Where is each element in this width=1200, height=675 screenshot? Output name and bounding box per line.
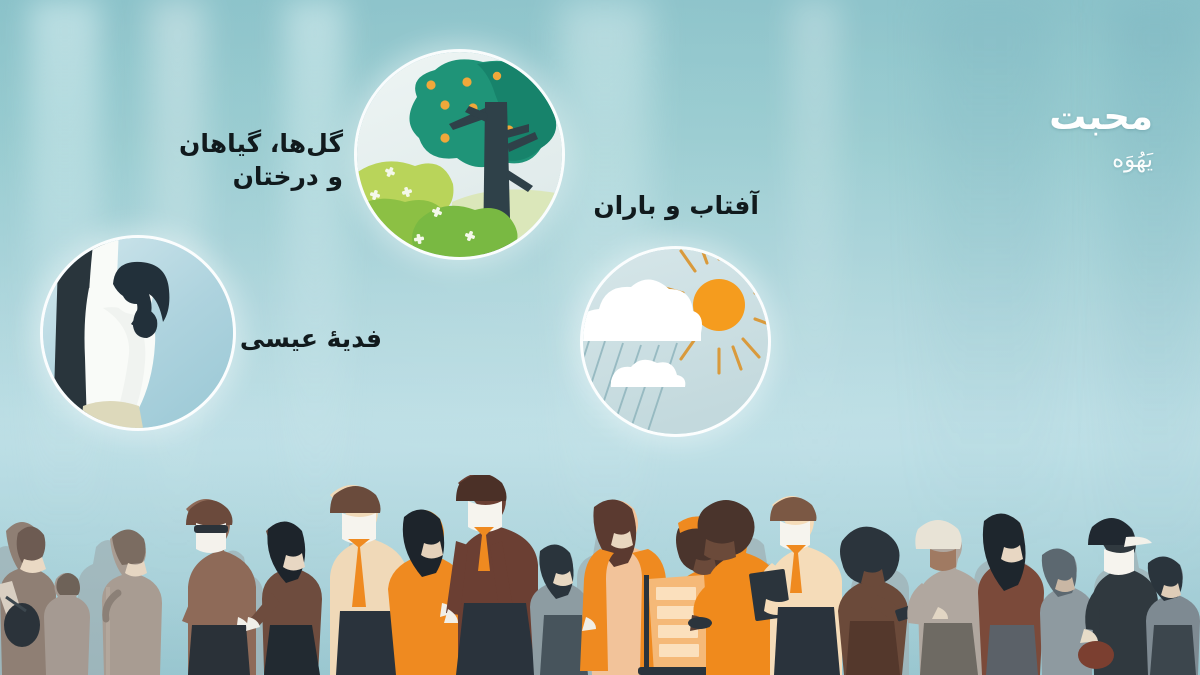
crowd-center-group — [330, 475, 917, 675]
brand-overlay: محبت یَهُوَه — [1049, 98, 1153, 172]
caption-sun-rain: آفتاب و باران — [529, 190, 759, 223]
caption-plants-line1: گل‌ها، گیاهان — [113, 128, 343, 161]
caption-plants-line2: و درختان — [113, 161, 343, 194]
crowd-right-group — [907, 513, 1200, 675]
crowd-figure — [444, 475, 538, 675]
crowd-figure — [978, 513, 1044, 675]
cap-brim — [1124, 537, 1152, 547]
overlay-subtitle: یَهُوَه — [1049, 149, 1153, 172]
caption-ransom: فدیهٔ عیسی — [152, 323, 382, 356]
medallion-plants — [357, 52, 562, 257]
crowd-illustration — [0, 475, 1200, 675]
crowd-left-group — [0, 499, 322, 675]
scene-canvas: گل‌ها، گیاهان و درختان آفتاب و باران فدی… — [0, 0, 1200, 675]
crowd-figure — [182, 499, 256, 675]
caption-plants: گل‌ها، گیاهان و درختان — [113, 128, 343, 193]
crowd-figure — [1078, 518, 1158, 675]
medallion-sun-rain — [583, 249, 768, 434]
crowd-figure — [530, 544, 588, 675]
overlay-title: محبت — [1049, 98, 1153, 135]
sunglasses-icon — [194, 525, 228, 533]
sun-rain-illustration — [583, 249, 768, 434]
loincloth — [81, 401, 143, 428]
crowd-figure — [907, 520, 984, 675]
tree-illustration — [357, 52, 562, 257]
handbag — [1078, 641, 1114, 669]
crowd-figure — [1146, 556, 1200, 675]
